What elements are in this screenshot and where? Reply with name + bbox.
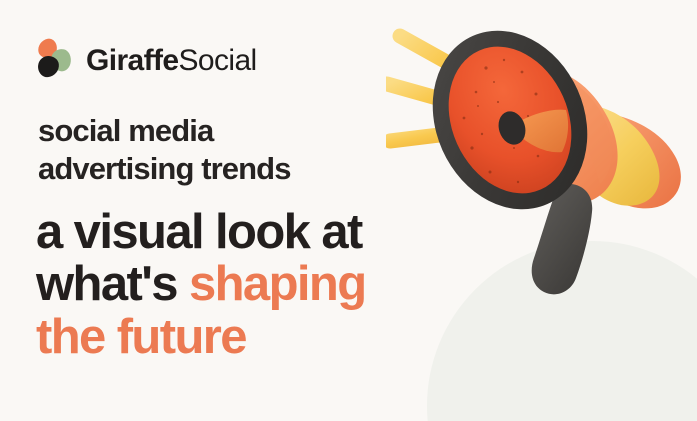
subtitle: social media advertising trends [38, 112, 291, 188]
headline-line-3: the future [36, 311, 366, 363]
headline-line-2-plain: what's [36, 257, 189, 311]
black-blob-icon [37, 55, 60, 78]
headline-line-2-accent: shaping [189, 257, 366, 311]
headline: a visual look at what's shaping the futu… [36, 206, 366, 363]
headline-line-2: what's shaping [36, 258, 366, 310]
logo-mark [36, 38, 80, 84]
poster-canvas: GiraffeSocial social media advertising t… [0, 0, 697, 421]
headline-line-1: a visual look at [36, 206, 366, 258]
brand-name-light: Social [179, 44, 257, 77]
megaphone-3d-illustration [386, 6, 691, 306]
brand-wordmark: GiraffeSocial [86, 46, 257, 76]
brand-logo[interactable]: GiraffeSocial [36, 37, 257, 85]
brand-name-strong: Giraffe [86, 44, 179, 77]
